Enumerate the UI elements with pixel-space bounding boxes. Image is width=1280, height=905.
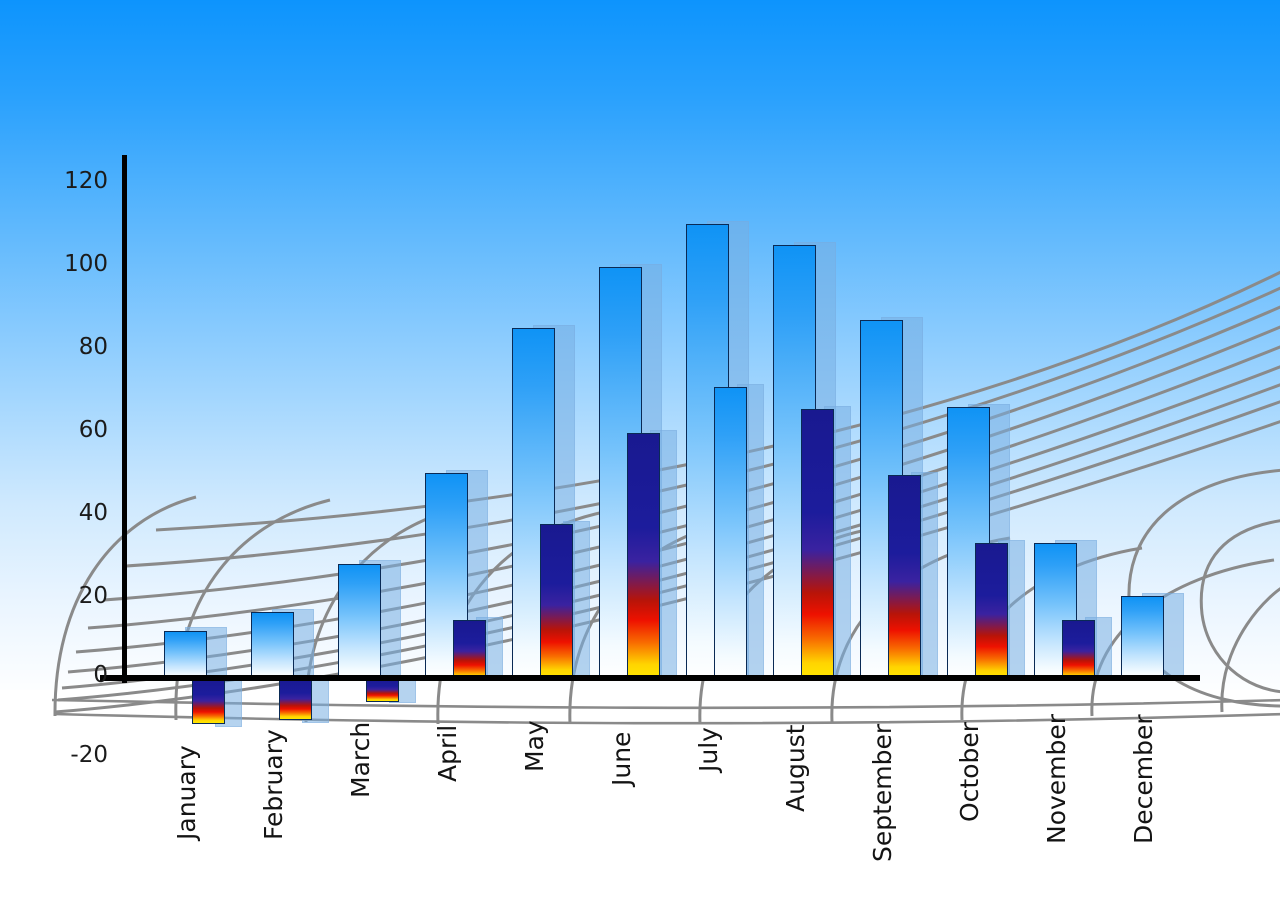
y-tick-neg20: -20	[40, 742, 108, 768]
x-label-january: January	[172, 745, 201, 840]
x-label-august: August	[781, 725, 810, 813]
y-tick-40: 40	[48, 500, 108, 526]
x-label-october: October	[955, 722, 984, 822]
bar-face	[627, 433, 660, 680]
bar-face	[1121, 596, 1164, 680]
bar-september-gradient	[888, 475, 919, 678]
bar-february-gradient	[279, 676, 310, 718]
x-label-july: July	[694, 727, 723, 772]
bar-may-gradient	[540, 524, 571, 678]
x-axis-zero-line	[100, 675, 1200, 681]
bar-august-gradient	[801, 409, 832, 678]
bar-face	[888, 475, 921, 680]
bar-april-gradient	[453, 620, 484, 678]
bar-february-blue	[251, 612, 292, 678]
bar-face	[1062, 620, 1095, 680]
bar-chart-figure: 120 100 80 60 40 20 0 -20 January Februa…	[0, 0, 1280, 905]
bar-november-gradient	[1062, 620, 1093, 678]
y-tick-20: 20	[48, 583, 108, 609]
bar-face	[540, 524, 573, 680]
bar-face	[338, 564, 381, 680]
bar-january-blue	[164, 631, 205, 678]
y-tick-0: 0	[48, 662, 108, 688]
y-tick-60: 60	[48, 417, 108, 443]
x-label-june: June	[607, 732, 636, 786]
plot-area: 120 100 80 60 40 20 0 -20 January Februa…	[0, 0, 1280, 905]
bar-face	[192, 676, 225, 724]
bar-january-gradient	[192, 676, 223, 722]
bar-december-blue	[1121, 596, 1162, 678]
bar-face	[714, 387, 747, 680]
y-tick-100: 100	[48, 251, 108, 277]
bar-june-gradient	[627, 433, 658, 678]
x-label-december: December	[1129, 714, 1158, 844]
x-label-march: March	[346, 722, 375, 798]
bar-face	[251, 612, 294, 680]
bar-face	[453, 620, 486, 680]
bar-july-gradient	[714, 387, 745, 678]
bar-face	[164, 631, 207, 680]
bar-face	[975, 543, 1008, 680]
y-tick-80: 80	[48, 334, 108, 360]
y-tick-120: 120	[48, 168, 108, 194]
x-label-november: November	[1042, 714, 1071, 844]
x-label-may: May	[520, 720, 549, 772]
x-label-september: September	[868, 724, 897, 862]
bar-october-gradient	[975, 543, 1006, 678]
bar-face	[279, 676, 312, 720]
x-label-february: February	[259, 729, 288, 840]
y-axis-line	[122, 155, 127, 683]
bar-face	[801, 409, 834, 680]
x-label-april: April	[433, 725, 462, 782]
bar-march-blue	[338, 564, 379, 678]
